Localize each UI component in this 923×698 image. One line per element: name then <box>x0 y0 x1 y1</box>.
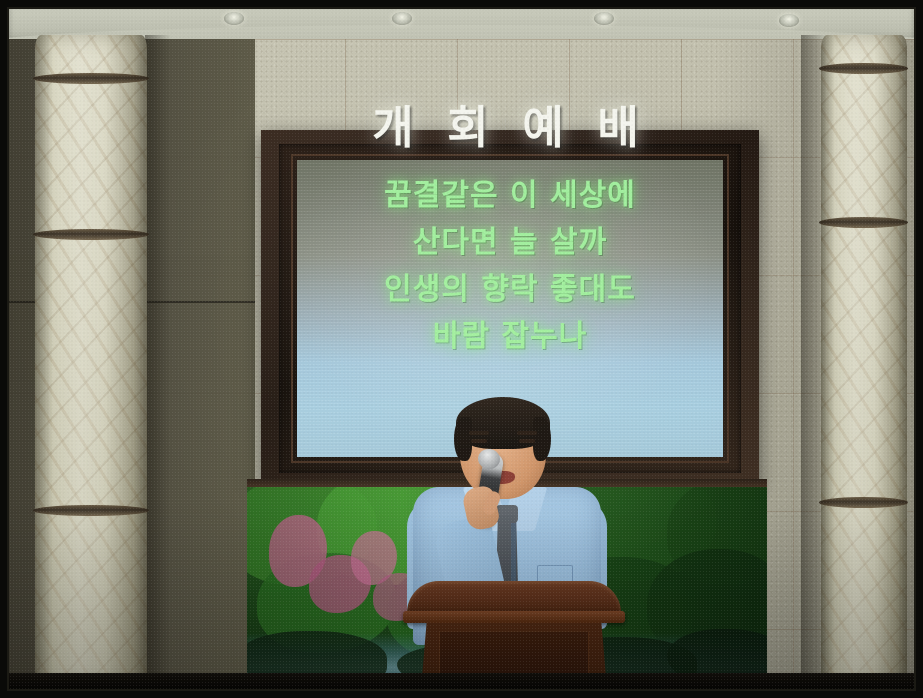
photograph: 꿈결같은 이 세상에 산다면 늘 살까 인생의 향락 좋대도 바람 잡누나 개 … <box>0 0 923 698</box>
photo-outer-border <box>0 0 923 698</box>
